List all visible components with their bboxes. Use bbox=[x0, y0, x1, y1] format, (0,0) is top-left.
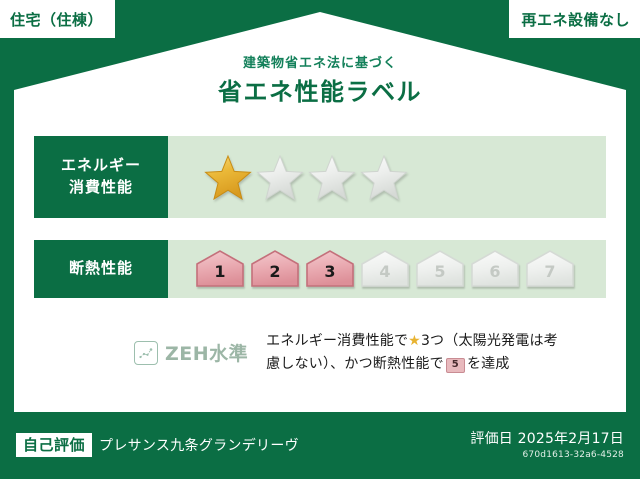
zeh-desc-part1: エネルギー消費性能で bbox=[266, 333, 408, 349]
star-rating bbox=[204, 154, 408, 200]
row-energy-body bbox=[168, 136, 606, 218]
tag-building-type: 住宅（住棟） bbox=[0, 0, 115, 38]
star-empty-icon bbox=[308, 154, 356, 200]
evaluation-date-value: 2025年2月17日 bbox=[518, 431, 624, 447]
energy-performance-label: 住宅（住棟） 再エネ設備なし 建築物省エネ法に基づく 省エネ性能ラベル エネルギ… bbox=[0, 0, 640, 479]
insulation-grade-filled: 1 bbox=[194, 249, 246, 289]
star-empty-icon bbox=[360, 154, 408, 200]
insulation-grade-filled: 3 bbox=[304, 249, 356, 289]
star-filled-icon bbox=[204, 154, 252, 200]
zeh-section: ZEH水準 エネルギー消費性能で★3つ（太陽光発電は考慮しない）、かつ断熱性能で… bbox=[34, 330, 606, 375]
insulation-grade-empty: 7 bbox=[524, 249, 576, 289]
insulation-grade-empty: 4 bbox=[359, 249, 411, 289]
zeh-description: エネルギー消費性能で★3つ（太陽光発電は考慮しない）、かつ断熱性能で5を達成 bbox=[266, 330, 566, 375]
evaluation-date-label: 評価日 bbox=[470, 431, 513, 447]
insulation-grade-empty: 6 bbox=[469, 249, 521, 289]
insulation-grade-number: 6 bbox=[489, 264, 500, 289]
star-empty-icon bbox=[256, 154, 304, 200]
row-energy-label-line1: エネルギー bbox=[61, 155, 141, 177]
row-insulation-performance: 断熱性能 1234567 bbox=[34, 240, 606, 298]
insulation-grade-number: 1 bbox=[214, 264, 225, 289]
tag-renewable-energy: 再エネ設備なし bbox=[509, 0, 640, 38]
zeh-label: ZEH水準 bbox=[165, 339, 248, 366]
zeh-mark: ZEH水準 bbox=[134, 330, 248, 366]
zeh-scatter-icon bbox=[134, 341, 158, 365]
footer: 自己評価 プレサンス九条グランデリーヴ 評価日 2025年2月17日 670d1… bbox=[0, 417, 640, 479]
zeh-desc-part3: を達成 bbox=[467, 356, 510, 372]
row-energy-performance: エネルギー 消費性能 bbox=[34, 136, 606, 218]
label-subtitle: 建築物省エネ法に基づく bbox=[0, 56, 640, 73]
row-energy-label-line2: 消費性能 bbox=[69, 177, 133, 199]
insulation-grade-number: 5 bbox=[434, 264, 445, 289]
row-energy-label: エネルギー 消費性能 bbox=[34, 136, 168, 218]
row-insulation-label-line1: 断熱性能 bbox=[69, 258, 133, 280]
row-insulation-body: 1234567 bbox=[168, 240, 606, 298]
footer-left: 自己評価 プレサンス九条グランデリーヴ bbox=[16, 433, 299, 457]
evaluation-id: 670d1613-32a6-4528 bbox=[470, 450, 624, 460]
insulation-grade-number: 2 bbox=[269, 264, 280, 289]
insulation-grade-number: 4 bbox=[379, 264, 390, 289]
footer-right: 評価日 2025年2月17日 670d1613-32a6-4528 bbox=[470, 430, 624, 460]
evaluation-date: 評価日 2025年2月17日 bbox=[470, 430, 624, 448]
inline-grade-badge: 5 bbox=[446, 358, 465, 373]
insulation-grade-empty: 5 bbox=[414, 249, 466, 289]
insulation-grade-filled: 2 bbox=[249, 249, 301, 289]
inline-star-icon: ★ bbox=[408, 333, 421, 349]
building-name: プレサンス九条グランデリーヴ bbox=[99, 435, 299, 455]
insulation-grade-scale: 1234567 bbox=[194, 249, 576, 289]
insulation-grade-number: 7 bbox=[544, 264, 555, 289]
page-title: 省エネ性能ラベル bbox=[0, 78, 640, 107]
row-insulation-label: 断熱性能 bbox=[34, 240, 168, 298]
header: 建築物省エネ法に基づく 省エネ性能ラベル bbox=[0, 56, 640, 107]
self-evaluation-badge: 自己評価 bbox=[16, 433, 92, 457]
insulation-grade-number: 3 bbox=[324, 264, 335, 289]
